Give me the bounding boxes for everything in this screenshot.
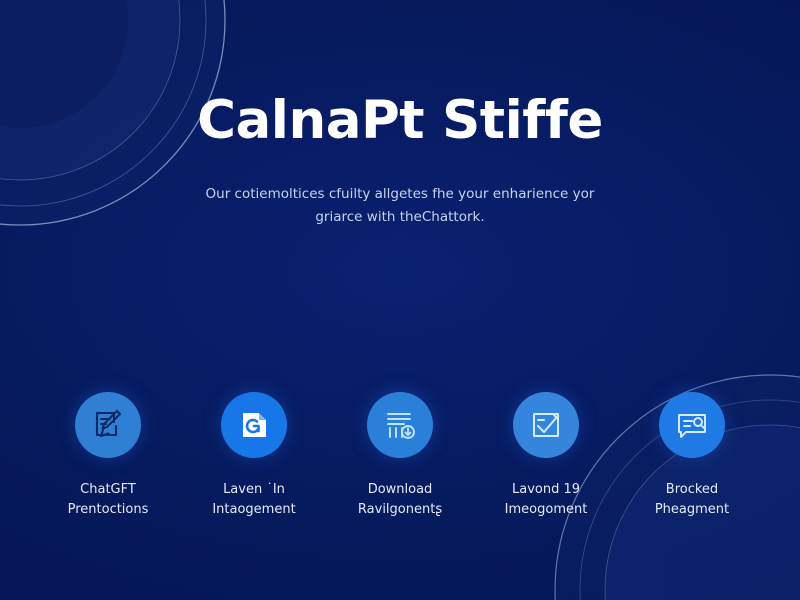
- chat-search-icon[interactable]: [659, 392, 725, 458]
- chat-search-glyph: [673, 406, 711, 444]
- feature-item-laven-in-intaogement[interactable]: Laven ˙In Intaogement: [186, 392, 322, 520]
- feature-item-download-ravilgonent[interactable]: Download Ravilgonentʂ: [332, 392, 468, 520]
- chart-download-glyph: [381, 406, 419, 444]
- feature-label: Lavond 19 Imeogoment: [505, 480, 588, 520]
- checklist-pencil-icon[interactable]: [513, 392, 579, 458]
- checklist-pencil-glyph: [527, 406, 565, 444]
- chart-download-icon[interactable]: [367, 392, 433, 458]
- feature-label: Laven ˙In Intaogement: [212, 480, 295, 520]
- feature-row: ChatGFT Prentoctions Laven ˙In Intaogeme…: [40, 392, 760, 520]
- feature-label: Download Ravilgonentʂ: [358, 480, 442, 520]
- feature-label: ChatGFT Prentoctions: [68, 480, 149, 520]
- note-pencil-glyph: [89, 406, 127, 444]
- page-title: CalnaPt Stiffe: [0, 92, 800, 149]
- document-g-glyph: [236, 407, 272, 443]
- page-subtitle: Our cotiemoltices cfuilty allgetes fhe y…: [185, 183, 615, 229]
- document-g-icon[interactable]: [221, 392, 287, 458]
- feature-item-brocked-pheagment[interactable]: Brocked Pheagment: [624, 392, 760, 520]
- feature-label: Brocked Pheagment: [655, 480, 729, 520]
- slide-canvas: CalnaPt Stiffe Our cotiemoltices cfuilty…: [0, 0, 800, 600]
- feature-item-chatgpt-prentoctions[interactable]: ChatGFT Prentoctions: [40, 392, 176, 520]
- note-pencil-icon[interactable]: [75, 392, 141, 458]
- hero-section: CalnaPt Stiffe Our cotiemoltices cfuilty…: [0, 92, 800, 230]
- feature-item-lavond-19-imeogoment[interactable]: Lavond 19 Imeogoment: [478, 392, 614, 520]
